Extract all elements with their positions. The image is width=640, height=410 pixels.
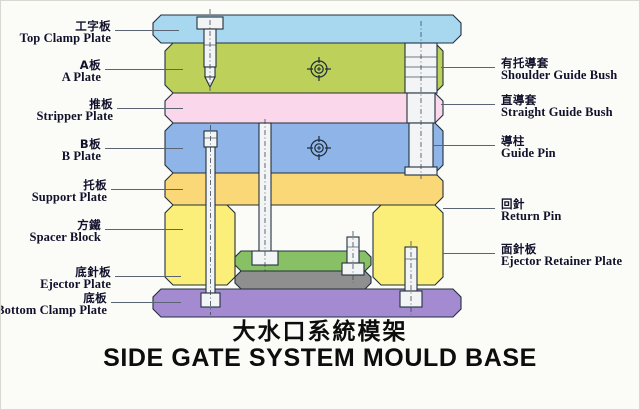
label-top-clamp-plate-en: Top Clamp Plate [20,32,111,46]
leader-bottom-clamp-plate [111,302,181,303]
label-a-plate-en: A Plate [62,71,101,85]
leader-support-plate [111,189,183,190]
leader-ejector-plate [115,276,181,277]
label-ejector-retainer-plate-en: Ejector Retainer Plate [501,255,622,269]
label-a-plate: A板 A Plate [62,59,101,85]
leader-return-pin [443,208,495,209]
label-shoulder-guide-bush: 有托導套 Shoulder Guide Bush [501,57,617,83]
label-spacer-block: 方鐵 Spacer Block [30,219,101,245]
label-stripper-plate-en: Stripper Plate [36,110,113,124]
label-spacer-block-en: Spacer Block [30,231,101,245]
leader-stripper-plate [117,108,183,109]
label-b-plate-en: B Plate [62,150,101,164]
leader-ejector-retainer-plate [443,253,495,254]
leader-straight-guide-bush [441,104,495,105]
label-support-plate: 托板 Support Plate [32,179,107,205]
leader-b-plate [105,148,183,149]
title-english: SIDE GATE SYSTEM MOULD BASE [1,345,639,373]
label-shoulder-guide-bush-en: Shoulder Guide Bush [501,69,617,83]
label-guide-pin-en: Guide Pin [501,147,556,161]
mould-base-diagram-page: .o { stroke:#22303c; stroke-width:1.1; }… [0,0,640,410]
label-bottom-clamp-plate: 底板 Bottom Clamp Plate [0,292,107,318]
part-spacer-block-left [165,205,235,285]
label-ejector-plate: 底針板 Ejector Plate [40,266,111,292]
label-return-pin-en: Return Pin [501,210,561,224]
leader-shoulder-guide-bush [441,67,495,68]
label-guide-pin: 導柱 Guide Pin [501,135,556,161]
label-straight-guide-bush: 直導套 Straight Guide Bush [501,94,613,120]
label-ejector-plate-en: Ejector Plate [40,278,111,292]
label-b-plate: B板 B Plate [62,138,101,164]
label-bottom-clamp-plate-en: Bottom Clamp Plate [0,304,107,318]
leader-guide-pin [433,145,495,146]
title-chinese: 大水口系統模架 [1,319,639,345]
label-ejector-retainer-plate: 面針板 Ejector Retainer Plate [501,243,622,269]
label-return-pin: 回針 Return Pin [501,198,561,224]
label-support-plate-en: Support Plate [32,191,107,205]
label-stripper-plate: 推板 Stripper Plate [36,98,113,124]
leader-top-clamp-plate [115,30,179,31]
title-block: 大水口系統模架 SIDE GATE SYSTEM MOULD BASE [1,319,639,373]
leader-a-plate [105,69,183,70]
label-top-clamp-plate: 工字板 Top Clamp Plate [20,20,111,46]
straight-guide-bush [407,93,435,123]
part-stripper-plate [165,93,443,123]
leader-spacer-block [105,229,183,230]
label-straight-guide-bush-en: Straight Guide Bush [501,106,613,120]
